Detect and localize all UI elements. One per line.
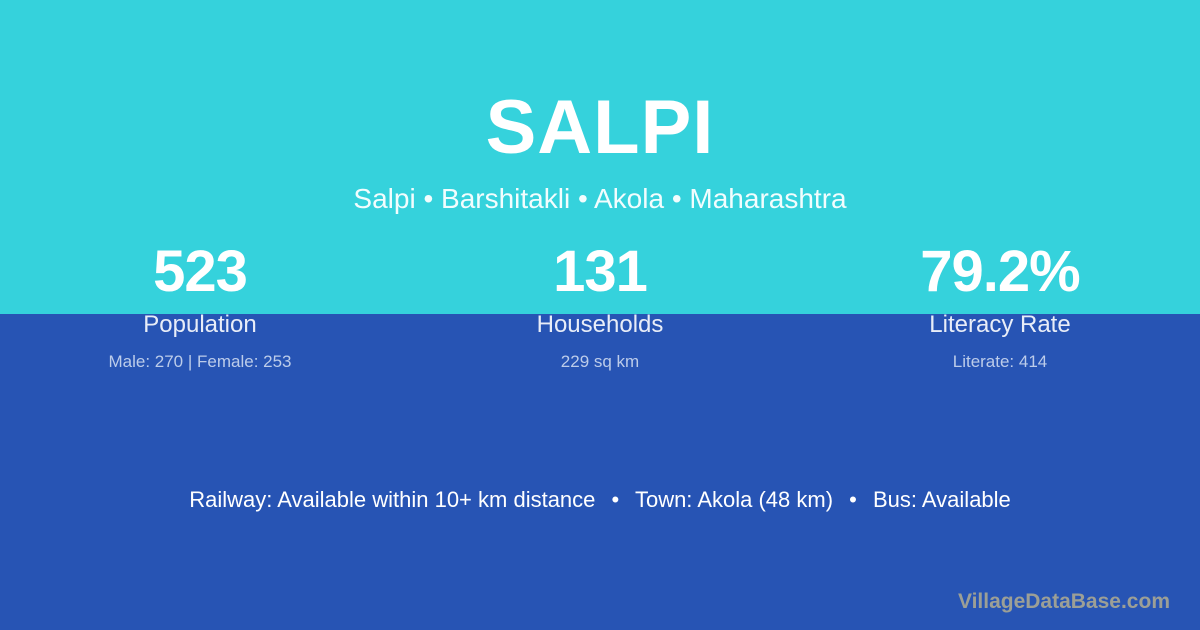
stat-population: 523 Population Male: 270 | Female: 253 <box>0 236 400 373</box>
fact-railway: Railway: Available within 10+ km distanc… <box>189 487 595 512</box>
stat-sublabel: Male: 270 | Female: 253 <box>0 340 400 373</box>
stat-sublabel: Literate: 414 <box>800 340 1200 373</box>
village-info-card: SALPI Salpi • Barshitakli • Akola • Maha… <box>0 0 1200 630</box>
stat-value: 523 <box>0 236 400 308</box>
fact-separator-1: • <box>602 487 630 512</box>
stat-value: 131 <box>400 236 800 308</box>
fact-separator-2: • <box>839 487 867 512</box>
fact-bus: Bus: Available <box>873 487 1011 512</box>
page-title: SALPI <box>0 0 1200 174</box>
stat-households: 131 Households 229 sq km <box>400 236 800 373</box>
stat-label: Literacy Rate <box>800 308 1200 340</box>
site-watermark: VillageDataBase.com <box>958 588 1170 616</box>
stat-literacy-rate: 79.2% Literacy Rate Literate: 414 <box>800 236 1200 373</box>
facilities-line: Railway: Available within 10+ km distanc… <box>0 484 1200 516</box>
stat-label: Population <box>0 308 400 340</box>
stats-row: 523 Population Male: 270 | Female: 253 1… <box>0 236 1200 373</box>
stat-value: 79.2% <box>800 236 1200 308</box>
stat-sublabel: 229 sq km <box>400 340 800 373</box>
stat-label: Households <box>400 308 800 340</box>
breadcrumb: Salpi • Barshitakli • Akola • Maharashtr… <box>0 174 1200 216</box>
card-header: SALPI Salpi • Barshitakli • Akola • Maha… <box>0 0 1200 216</box>
fact-nearest-town: Town: Akola (48 km) <box>635 487 833 512</box>
